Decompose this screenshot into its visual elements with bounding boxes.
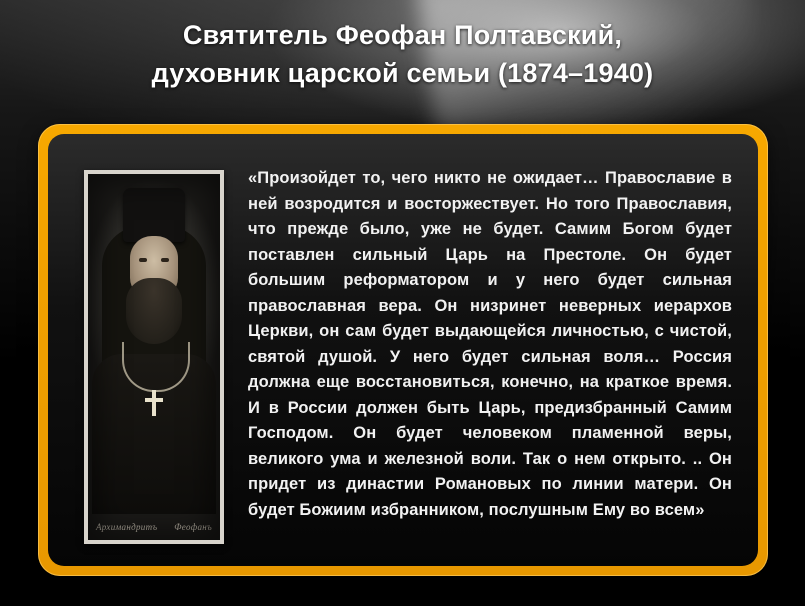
- portrait-photo: Архимандритъ Феофанъ: [88, 174, 220, 540]
- pectoral-cross-icon: [145, 390, 163, 416]
- signature-left-text: Архимандритъ: [96, 522, 157, 532]
- right-eye-shape: [161, 258, 169, 262]
- page-title: Святитель Феофан Полтавский, духовник ца…: [0, 16, 805, 92]
- content-card-inner: Архимандритъ Феофанъ «Произойдет то, чег…: [48, 134, 758, 566]
- slide: Святитель Феофан Полтавский, духовник ца…: [0, 0, 805, 606]
- klobuk-hat-shape: [123, 188, 185, 242]
- left-eye-shape: [139, 258, 147, 262]
- portrait-frame: Архимандритъ Феофанъ: [84, 170, 224, 544]
- title-line-2: духовник царской семьи (1874–1940): [0, 54, 805, 92]
- quote-text: «Произойдет то, чего никто не ожидает… П…: [248, 166, 732, 540]
- beard-shape: [126, 278, 182, 344]
- portrait-signature: Архимандритъ Феофанъ: [96, 506, 212, 532]
- title-line-1: Святитель Феофан Полтавский,: [0, 16, 805, 54]
- signature-right-text: Феофанъ: [174, 522, 212, 532]
- content-card: Архимандритъ Феофанъ «Произойдет то, чег…: [38, 124, 768, 576]
